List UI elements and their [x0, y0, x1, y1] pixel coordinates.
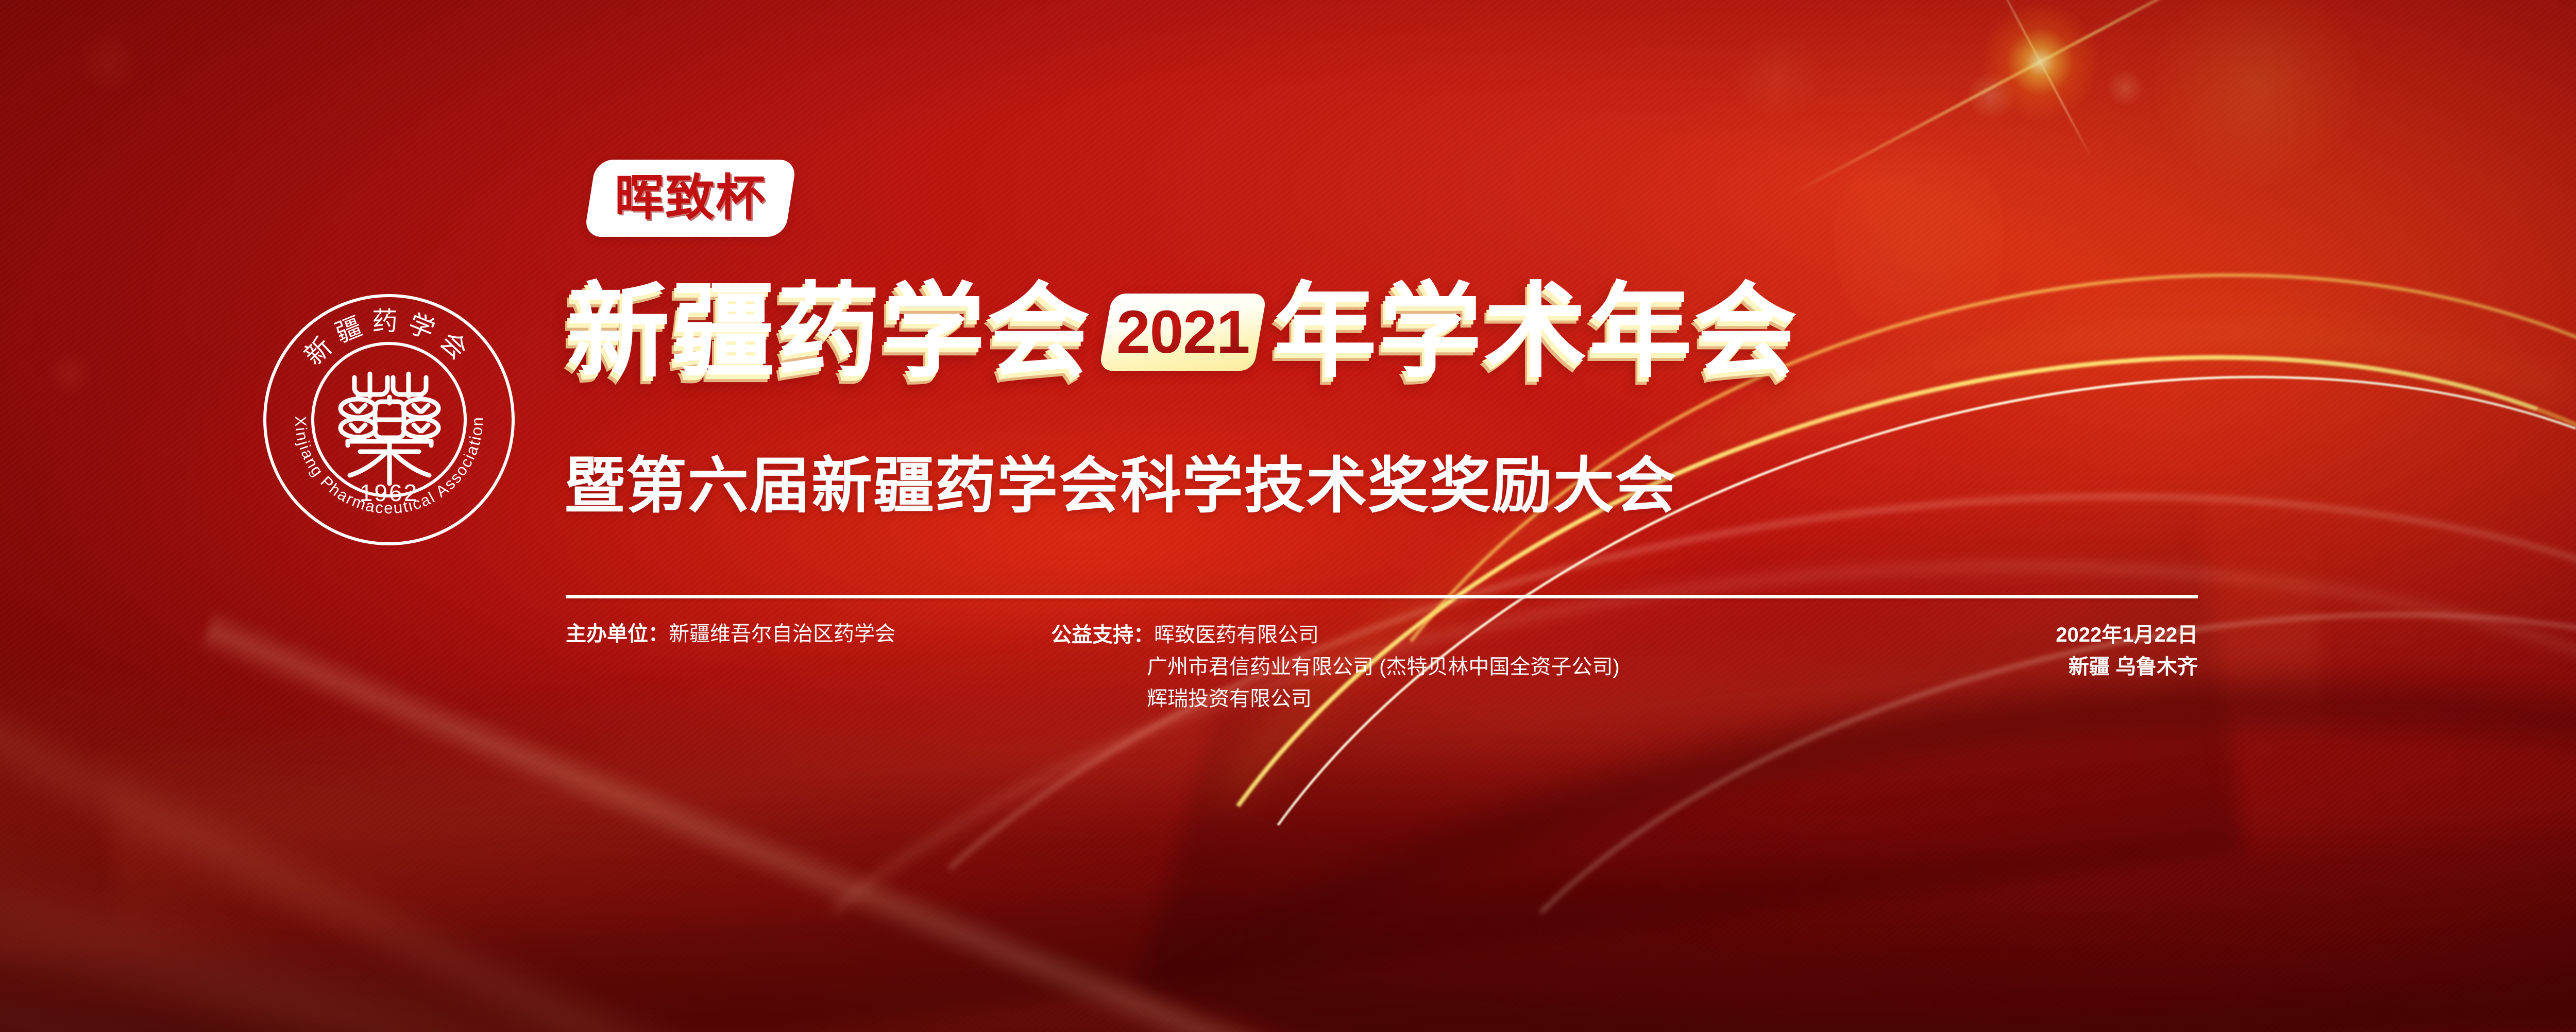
organizer-block: 主办单位：新疆维吾尔自治区药学会: [566, 619, 895, 649]
cup-badge-label: 晖致杯: [615, 174, 766, 223]
event-location: 新疆 乌鲁木齐: [2056, 651, 2198, 683]
support-row: 公益支持：晖致医药有限公司: [1051, 619, 1620, 651]
support-label: 公益支持：: [1051, 624, 1154, 646]
svg-text:新疆药学会: 新疆药学会: [299, 307, 479, 370]
association-logo: 新疆药学会 Xinjiang Pharmaceutical Associatio…: [260, 291, 518, 548]
event-info-block: 2022年1月22日 新疆 乌鲁木齐: [2056, 619, 2198, 683]
support-company: 辉瑞投资有限公司: [1147, 687, 1312, 710]
support-company: 晖致医药有限公司: [1154, 624, 1319, 646]
organizer-label: 主办单位：: [566, 623, 669, 645]
page-title: 新疆药学会 2021 年学术年会: [567, 281, 1799, 384]
organizer-value: 新疆维吾尔自治区药学会: [669, 623, 895, 645]
support-row: 广州市君信药业有限公司 (杰特贝林中国全资子公司): [1051, 651, 1620, 683]
logo-founded-year: 1962: [360, 479, 418, 506]
banner-content: 新疆药学会 Xinjiang Pharmaceutical Associatio…: [0, 0, 2576, 1032]
year-badge: 2021: [1099, 294, 1267, 371]
title-part-two: 年学术年会: [1274, 281, 1799, 384]
footer-divider: [566, 595, 2198, 598]
conference-banner: 新疆药学会 Xinjiang Pharmaceutical Associatio…: [0, 0, 2576, 1032]
support-block: 公益支持：晖致医药有限公司 广州市君信药业有限公司 (杰特贝林中国全资子公司) …: [1051, 619, 1620, 715]
year-badge-label: 2021: [1116, 302, 1250, 363]
event-date: 2022年1月22日: [2056, 619, 2198, 651]
banner-footer: 主办单位：新疆维吾尔自治区药学会 公益支持：晖致医药有限公司 广州市君信药业有限…: [0, 616, 2576, 729]
cup-badge: 晖致杯: [584, 160, 797, 237]
title-part-one: 新疆药学会: [567, 281, 1092, 384]
support-row: 辉瑞投资有限公司: [1051, 683, 1620, 715]
support-company: 广州市君信药业有限公司 (杰特贝林中国全资子公司): [1147, 656, 1620, 678]
page-subtitle: 暨第六届新疆药学会科学技术奖奖励大会: [564, 456, 1677, 517]
